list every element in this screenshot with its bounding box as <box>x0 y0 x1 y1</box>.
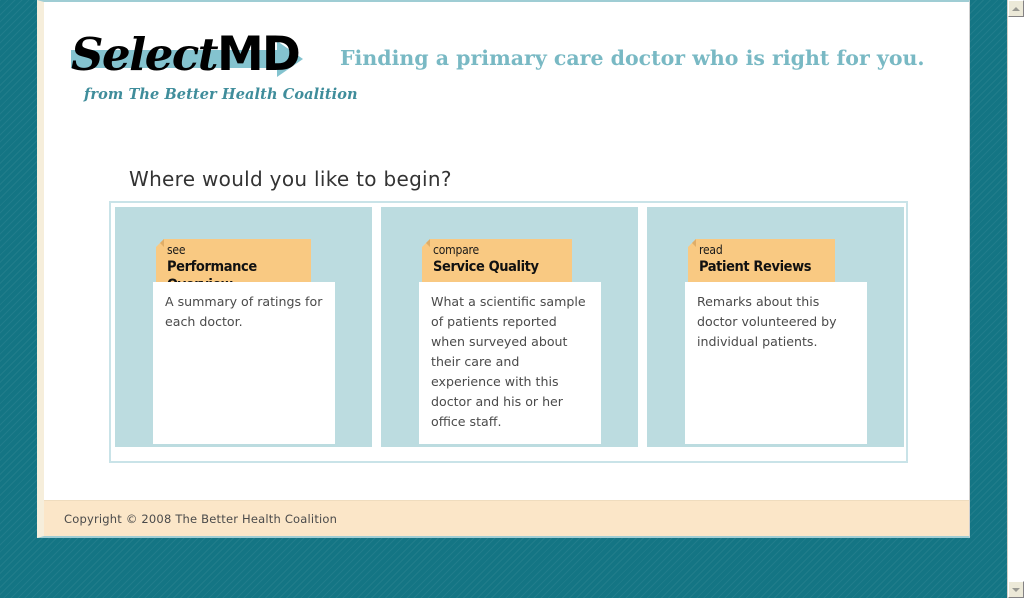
folded-corner-icon <box>422 239 430 247</box>
card-service-quality[interactable]: compare Service Quality What a scientifi… <box>381 207 638 447</box>
folded-corner-icon <box>688 239 696 247</box>
scroll-up-button[interactable] <box>1008 0 1024 17</box>
card-body-service-quality: What a scientific sample of patients rep… <box>419 282 601 444</box>
card-description: What a scientific sample of patients rep… <box>431 292 589 432</box>
card-kicker: compare <box>433 243 572 257</box>
site-footer: Copyright © 2008 The Better Health Coali… <box>44 500 969 536</box>
vertical-scrollbar[interactable] <box>1007 0 1024 598</box>
logo-subtitle: from The Better Health Coalition <box>84 86 358 103</box>
card-tab-performance-overview[interactable]: see Performance Overview <box>156 239 311 284</box>
card-patient-reviews[interactable]: read Patient Reviews Remarks about this … <box>647 207 904 447</box>
card-kicker: read <box>699 243 835 257</box>
chevron-down-icon <box>1012 588 1020 592</box>
copyright-text: Copyright © 2008 The Better Health Coali… <box>64 512 337 526</box>
chevron-up-icon <box>1012 7 1020 11</box>
card-tab-patient-reviews[interactable]: read Patient Reviews <box>688 239 835 284</box>
browser-content-page: SelectMD from The Better Health Coalitio… <box>37 0 970 538</box>
scroll-down-button[interactable] <box>1008 581 1024 598</box>
logo-word-md: MD <box>217 27 299 82</box>
card-description: Remarks about this doctor volunteered by… <box>697 292 855 352</box>
card-kicker: see <box>167 243 311 257</box>
site-tagline: Finding a primary care doctor who is rig… <box>340 46 925 70</box>
card-body-performance-overview: A summary of ratings for each doctor. <box>153 282 335 444</box>
card-description: A summary of ratings for each doctor. <box>165 292 323 332</box>
card-performance-overview[interactable]: see Performance Overview A summary of ra… <box>115 207 372 447</box>
selectmd-logo[interactable]: SelectMD from The Better Health Coalitio… <box>71 27 321 109</box>
page-title: Where would you like to begin? <box>129 167 452 191</box>
card-body-patient-reviews: Remarks about this doctor volunteered by… <box>685 282 867 444</box>
cards-container: see Performance Overview A summary of ra… <box>109 201 908 463</box>
logo-wordmark: SelectMD <box>71 27 321 83</box>
cards-row: see Performance Overview A summary of ra… <box>115 207 906 457</box>
desktop-background: SelectMD from The Better Health Coalitio… <box>0 0 1024 598</box>
folded-corner-icon <box>156 239 164 247</box>
card-heading: Patient Reviews <box>699 258 835 276</box>
logo-word-select: Select <box>71 28 217 81</box>
scrollbar-track[interactable] <box>1008 17 1024 581</box>
site-header: SelectMD from The Better Health Coalitio… <box>44 2 969 122</box>
card-tab-service-quality[interactable]: compare Service Quality <box>422 239 572 284</box>
card-heading: Service Quality <box>433 258 572 276</box>
